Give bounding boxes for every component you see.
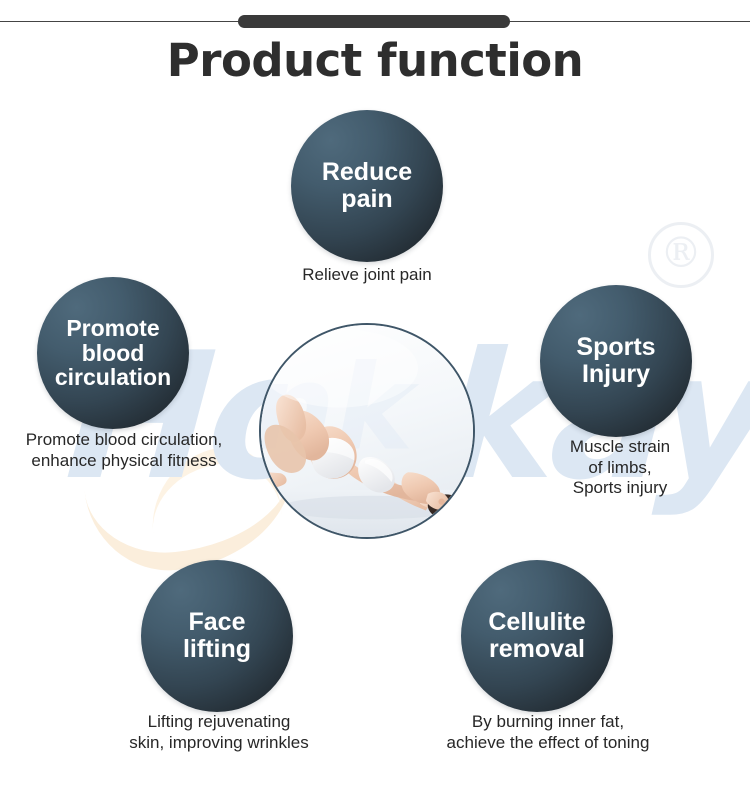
center-photo: nk [259, 323, 475, 539]
feature-bubble-promote-blood-circulation[interactable]: Promote blood circulation [37, 277, 189, 429]
woman-exercise-illustration: nk [261, 325, 473, 537]
feature-bubble-sports-injury[interactable]: Sports Injury [540, 285, 692, 437]
feature-bubble-reduce-pain[interactable]: Reduce pain [291, 110, 443, 262]
watermark-registered-icon: ® [648, 222, 714, 288]
feature-caption-cellulite-removal: By burning inner fat, achieve the effect… [418, 712, 678, 753]
page-title: Product function [0, 36, 750, 86]
feature-bubble-face-lifting[interactable]: Face lifting [141, 560, 293, 712]
feature-caption-promote-blood-circulation: Promote blood circulation, enhance physi… [0, 430, 248, 471]
header-accent-bar [238, 15, 510, 28]
feature-bubble-cellulite-removal[interactable]: Cellulite removal [461, 560, 613, 712]
feature-caption-face-lifting: Lifting rejuvenating skin, improving wri… [95, 712, 343, 753]
feature-caption-sports-injury: Muscle strain of limbs, Sports injury [520, 437, 720, 499]
product-function-infographic: Honkay ® Product function [0, 0, 750, 803]
feature-caption-reduce-pain: Relieve joint pain [245, 265, 489, 286]
